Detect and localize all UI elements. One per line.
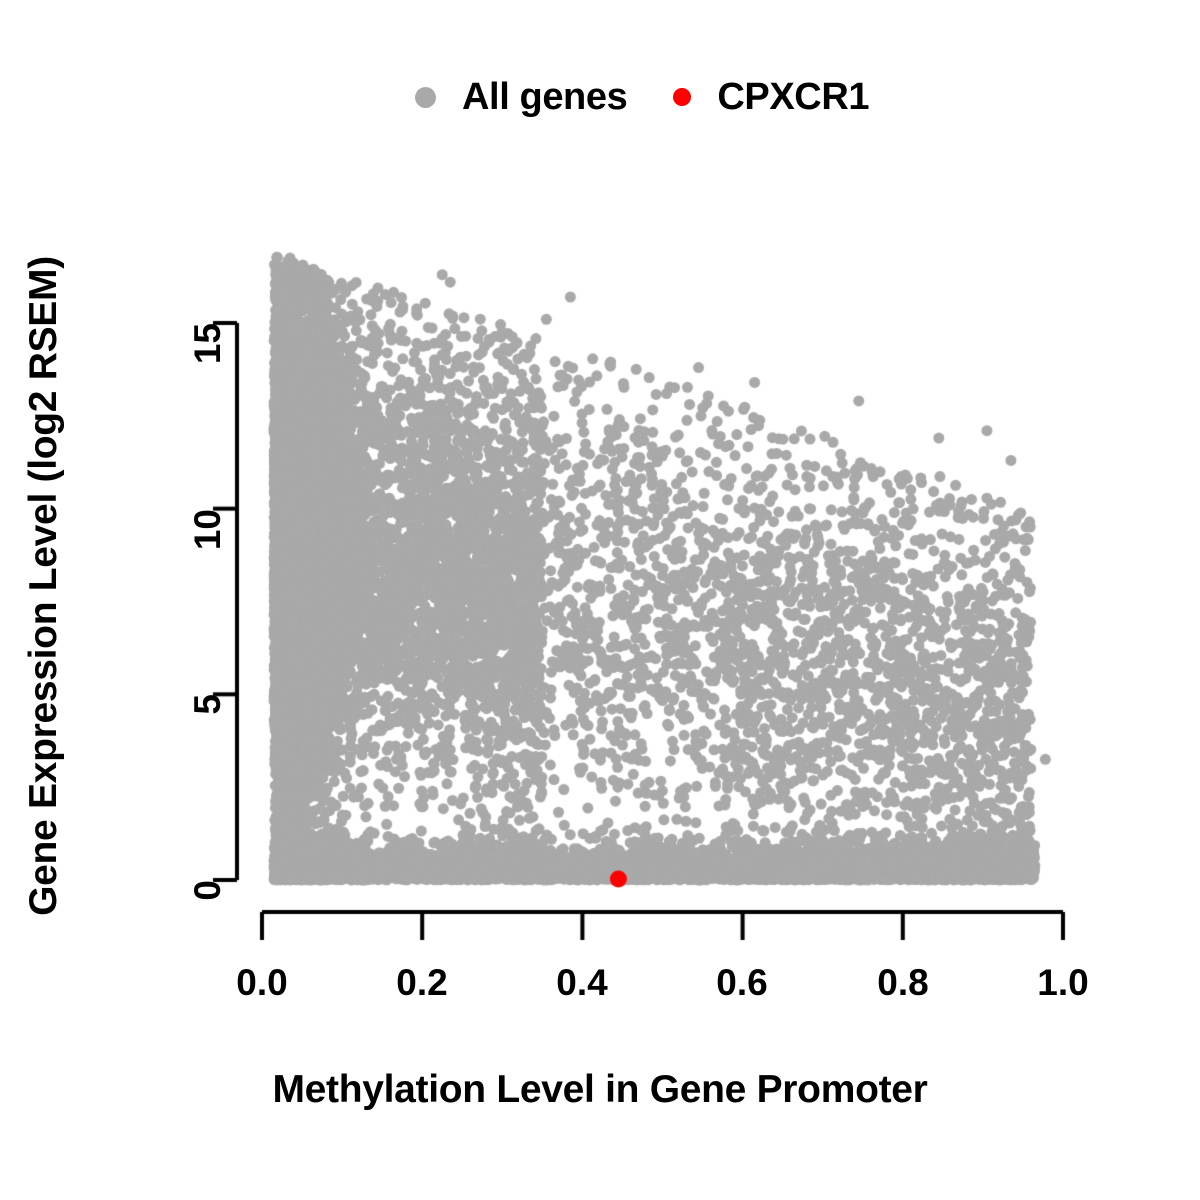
x-tick-label-0: 0.0 [236, 962, 287, 1004]
gray-dot-icon [415, 87, 436, 108]
y-tick-label-2: 10 [187, 509, 229, 550]
x-tick-label-1: 0.2 [396, 962, 447, 1004]
legend-label-all-genes: All genes [462, 78, 627, 116]
x-tick-label-3: 0.6 [716, 962, 767, 1004]
red-dot-icon [673, 88, 691, 106]
scatter-plot-canvas [0, 0, 1200, 1200]
legend-item-cpxcr1: CPXCR1 [627, 78, 869, 116]
x-tick-label-5: 1.0 [1037, 962, 1088, 1004]
x-tick-label-4: 0.8 [877, 962, 928, 1004]
legend-item-all-genes: All genes [415, 78, 627, 116]
y-tick-label-3: 15 [187, 323, 229, 364]
y-tick-label-0: 0 [187, 880, 229, 901]
scatter-plot-figure: All genes CPXCR1 0.0 0.2 0.4 0.6 0.8 1.0… [0, 0, 1200, 1200]
legend-label-cpxcr1: CPXCR1 [717, 78, 869, 116]
chart-legend: All genes CPXCR1 [415, 78, 869, 116]
x-axis-title: Methylation Level in Gene Promoter [0, 1068, 1200, 1112]
y-tick-label-1: 5 [187, 694, 229, 715]
x-tick-label-2: 0.4 [556, 962, 607, 1004]
